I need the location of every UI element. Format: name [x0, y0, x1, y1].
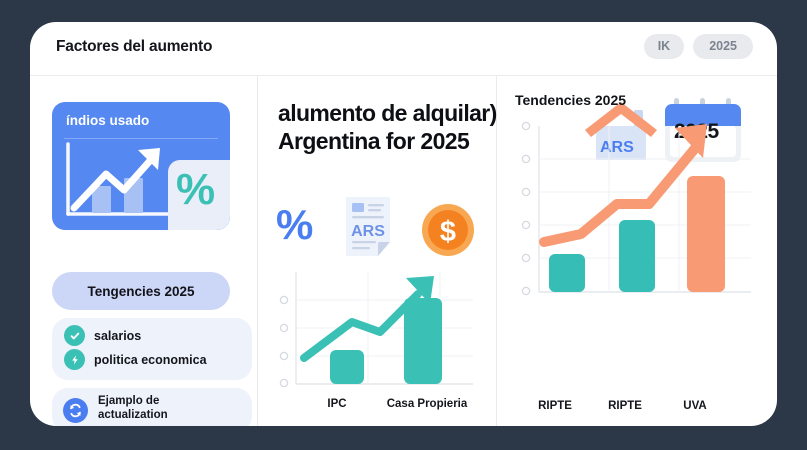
dollar-coin-icon: $ [420, 202, 476, 258]
bar-label-ripte-1: RIPTE [519, 400, 591, 412]
percent-panel: % [168, 160, 230, 230]
chart-y-ticks [280, 296, 287, 386]
badge-year[interactable]: 2025 [693, 34, 753, 59]
bar-label-ripte-2: RIPTE [589, 400, 661, 412]
index-card-divider [64, 138, 218, 139]
factor-item-salarios[interactable]: salarios [64, 325, 141, 346]
percent-symbol: % [176, 168, 215, 212]
main-card: Factores del aumento IK 2025 índios usad… [30, 22, 777, 426]
bar-uva [687, 176, 725, 292]
refresh-circle-icon [63, 398, 88, 423]
bar-label-uva: UVA [659, 400, 731, 412]
bar-label-casa-propieria: Casa Propieria [376, 398, 478, 410]
factor-item-label: salarios [94, 329, 141, 343]
update-card-label: Ejamplo de actualization [98, 394, 238, 423]
index-card[interactable]: índios usado % [52, 102, 230, 230]
right-column: ARS 2025 Tendencies 2025 [497, 76, 777, 426]
index-card-title: índios usado [66, 113, 149, 128]
sidebar: índios usado % Tengencies 2025 [30, 76, 258, 426]
main-bar-chart [268, 266, 483, 396]
document-icon: ARS [342, 194, 400, 260]
trends-pill-label: Tengencies 2025 [87, 284, 194, 299]
bar-label-ipc: IPC [306, 398, 368, 410]
icon-strip: % ARS $ [272, 194, 492, 260]
header-badge-group: IK 2025 [644, 34, 753, 59]
factor-list: salarios politica economica [52, 318, 252, 380]
right-bar-chart [509, 120, 761, 320]
bar-ipc [330, 350, 364, 384]
check-circle-icon [64, 325, 85, 346]
factor-item-label: politica economica [94, 353, 207, 367]
bar-ripte-1 [549, 254, 585, 292]
page-title: Factores del aumento [56, 38, 212, 56]
bar-ripte-2 [619, 220, 655, 292]
update-label-line2: actualization [98, 409, 168, 421]
trend-arrow [304, 294, 418, 358]
update-card[interactable]: Ejamplo de actualization [52, 388, 252, 426]
update-label-line1: Ejamplo de [98, 395, 159, 407]
svg-text:ARS: ARS [351, 223, 385, 240]
headline-line1: alumento de alquilar) [278, 100, 497, 126]
chart-y-ticks [522, 122, 529, 294]
card-header: Factores del aumento IK 2025 [30, 22, 777, 76]
percent-icon: % [276, 204, 313, 246]
main-column: alumento de alquilar) Argentina for 2025… [258, 76, 497, 426]
headline-line2: Argentina for 2025 [278, 128, 469, 154]
right-panel-title: Tendencies 2025 [515, 92, 626, 108]
badge-ik[interactable]: IK [644, 34, 685, 59]
bolt-circle-icon [64, 349, 85, 370]
trends-pill[interactable]: Tengencies 2025 [52, 272, 230, 310]
svg-text:$: $ [440, 216, 456, 248]
bar-casa-propieria [404, 298, 442, 384]
factor-item-politica-economica[interactable]: politica economica [64, 349, 207, 370]
